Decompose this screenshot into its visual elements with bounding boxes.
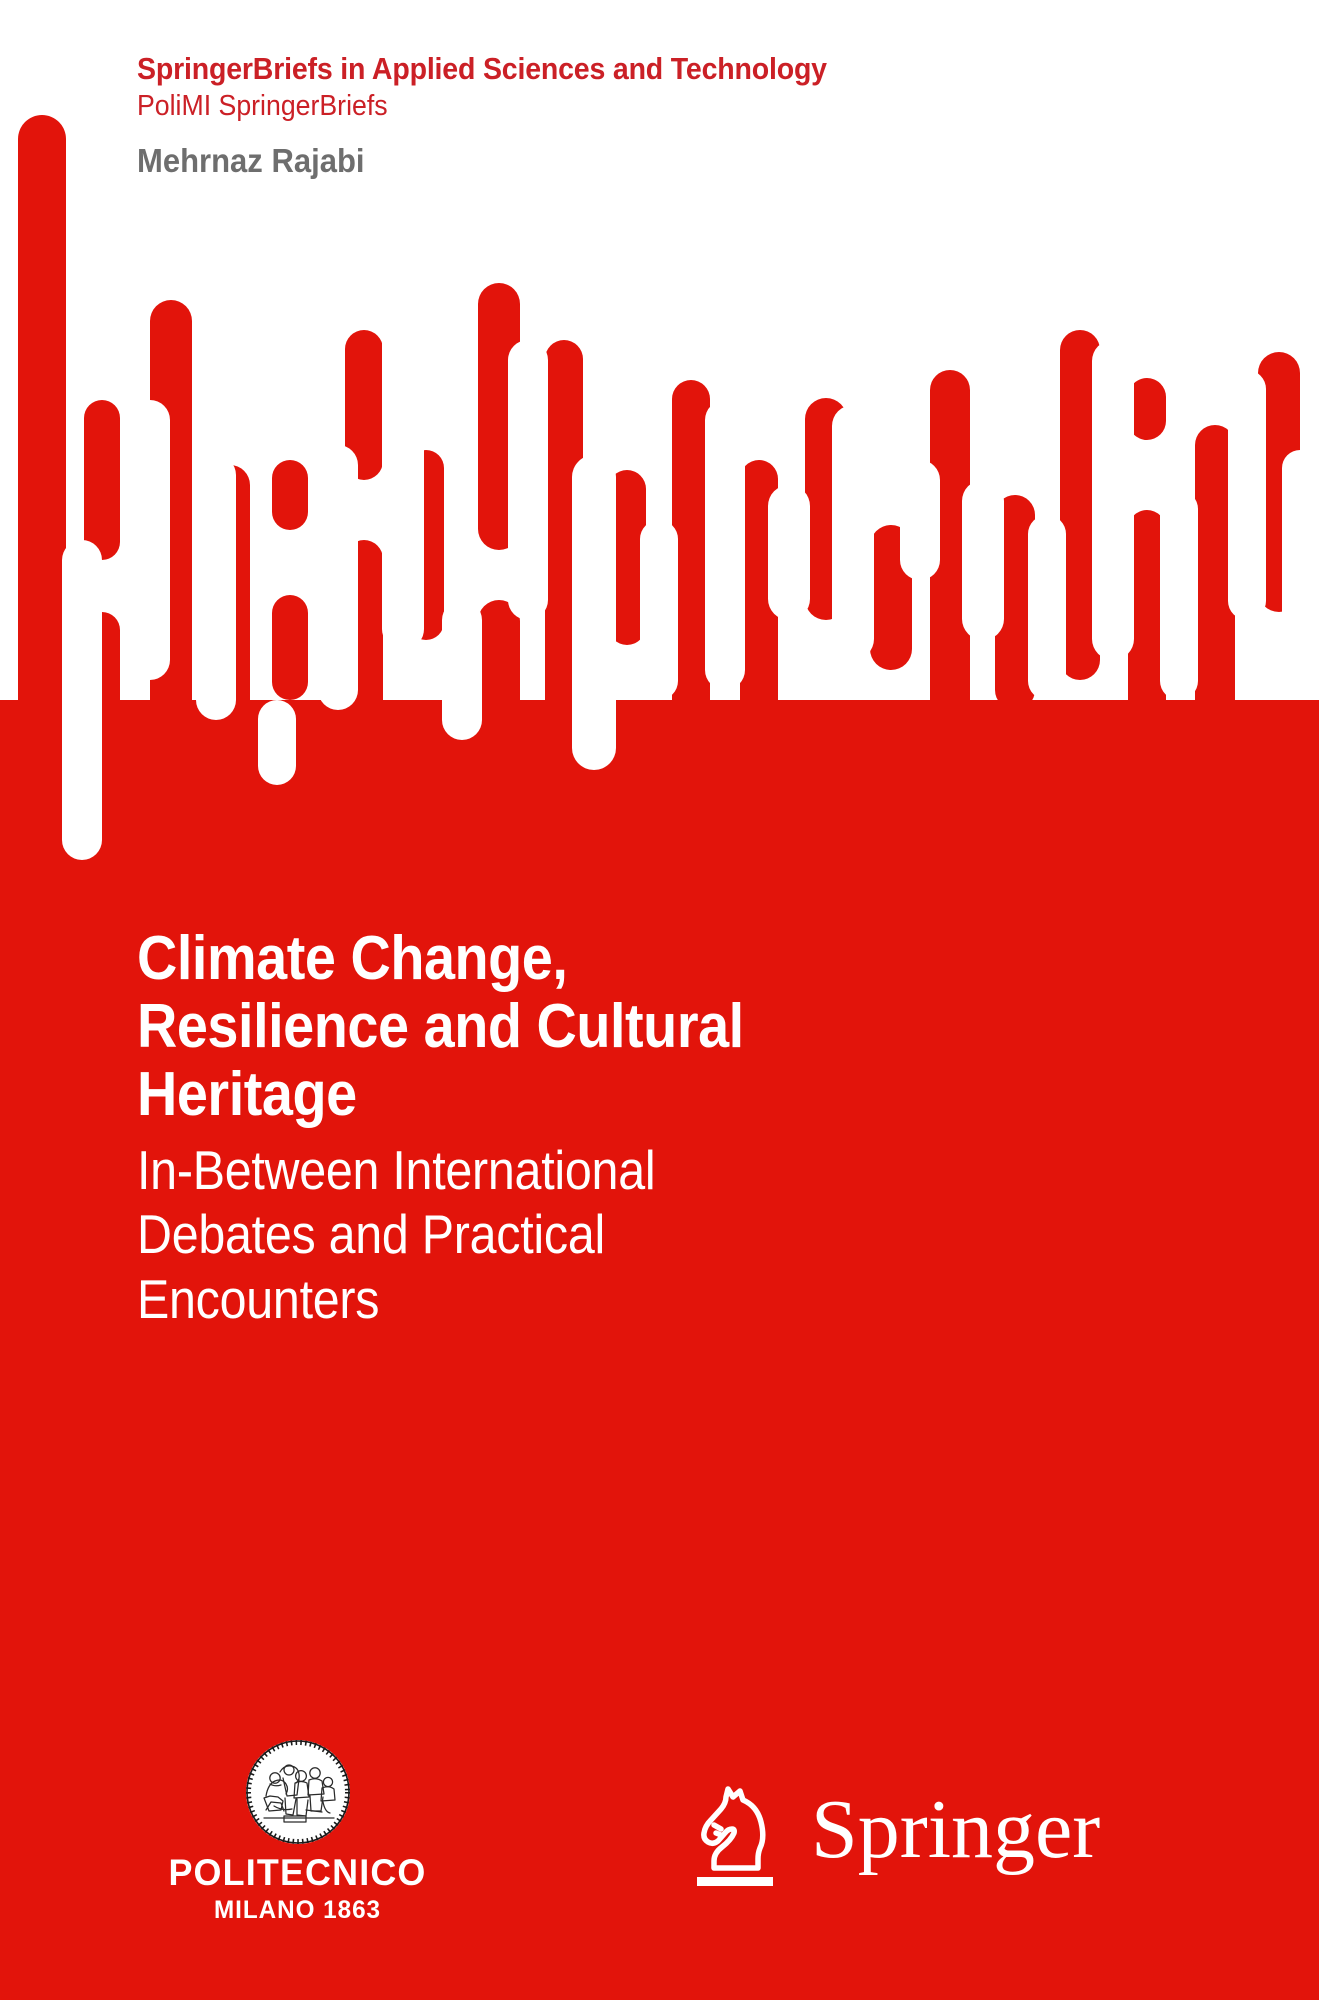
book-title: Climate Change, Resilience and Cultural … [137, 925, 947, 1130]
book-cover: SpringerBriefs in Applied Sciences and T… [0, 0, 1319, 2000]
author-name: Mehrnaz Rajabi [137, 142, 365, 180]
springer-knight-icon [681, 1780, 789, 1892]
book-title-line-1: Climate Change, [137, 924, 567, 993]
politecnico-seal-wrap [155, 1738, 440, 1846]
book-subtitle-line-2: Debates and Practical [137, 1203, 605, 1265]
politecnico-seal-icon [244, 1738, 352, 1846]
book-subtitle: In-Between International Debates and Pra… [137, 1138, 929, 1333]
book-title-line-2: Resilience and Cultural [137, 992, 744, 1061]
politecnico-wordmark: POLITECNICO [159, 1852, 435, 1894]
series-title: SpringerBriefs in Applied Sciences and T… [137, 52, 1149, 87]
book-subtitle-line-3: Encounters [137, 1268, 379, 1330]
book-subtitle-line-1: In-Between International [137, 1139, 655, 1201]
title-block: Climate Change, Resilience and Cultural … [137, 925, 1037, 1332]
politecnico-subline: MILANO 1863 [159, 1896, 435, 1925]
book-title-line-3: Heritage [137, 1060, 357, 1129]
springer-wordmark: Springer [811, 1788, 1100, 1872]
springer-logo: Springer [681, 1780, 1100, 1892]
politecnico-logo: POLITECNICO MILANO 1863 [155, 1738, 440, 1925]
series-subtitle: PoliMI SpringerBriefs [137, 89, 1149, 123]
series-header: SpringerBriefs in Applied Sciences and T… [137, 52, 1237, 123]
